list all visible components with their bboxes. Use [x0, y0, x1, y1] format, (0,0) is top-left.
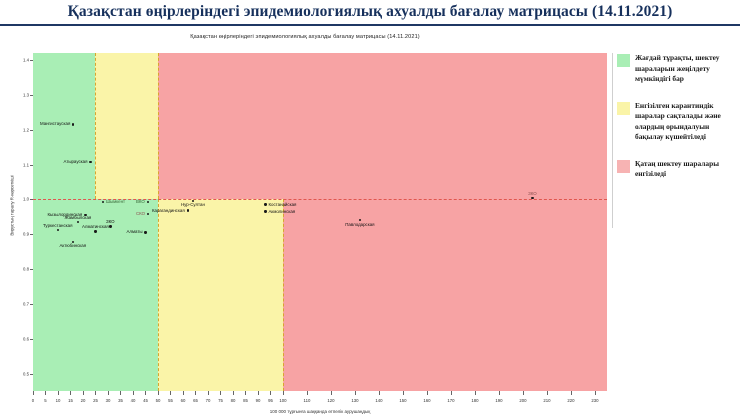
- plot-area: МангистаускаяАтыраускаяШымкентВКОСКОКызы…: [33, 53, 607, 391]
- x-axis-tick-mark: [571, 391, 572, 395]
- x-axis-tick-mark: [145, 391, 146, 395]
- data-point-label: Алматы: [126, 230, 142, 234]
- x-axis-tick-label: 5: [44, 398, 46, 403]
- x-axis-tick-label: 170: [447, 398, 454, 403]
- data-point-label: СКО: [136, 212, 145, 216]
- x-axis-tick-mark: [95, 391, 96, 395]
- x-axis-tick-mark: [595, 391, 596, 395]
- x-axis-tick-label: 40: [131, 398, 136, 403]
- x-axis-tick-mark: [233, 391, 234, 395]
- x-axis-tick-label: 100: [279, 398, 286, 403]
- y-axis-tick-label: 1.2: [23, 127, 29, 132]
- legend-item[interactable]: Қатаң шектеу шаралары енгізіледі: [617, 159, 737, 180]
- x-axis-tick-mark: [183, 391, 184, 395]
- x-axis-tick-mark: [523, 391, 524, 395]
- data-point-label: Нур-Султан: [181, 203, 205, 207]
- x-axis-tick-mark: [45, 391, 46, 395]
- x-axis-tick-label: 130: [351, 398, 358, 403]
- x-axis-tick-mark: [270, 391, 271, 395]
- data-point-label: Карагандинская: [152, 209, 185, 213]
- x-axis-tick-mark: [547, 391, 548, 395]
- x-axis-tick-label: 160: [423, 398, 430, 403]
- x-axis-tick-label: 85: [243, 398, 248, 403]
- x-axis-tick-mark: [475, 391, 476, 395]
- x-axis-tick-mark: [158, 391, 159, 395]
- data-point[interactable]: [264, 210, 266, 212]
- data-point-label: Костанайская: [268, 203, 296, 207]
- data-point-label: Шымкент: [106, 200, 125, 204]
- threshold-line-vertical: [158, 53, 159, 199]
- data-point[interactable]: [187, 209, 189, 211]
- x-axis-tick-label: 10: [56, 398, 61, 403]
- x-axis-label: 100 000 тұрғынға шаққанда өтпелік ауруша…: [33, 409, 607, 414]
- x-axis-tick-label: 110: [304, 398, 311, 403]
- y-axis-tick-label: 0.5: [23, 371, 29, 376]
- x-axis-tick-label: 50: [156, 398, 161, 403]
- y-axis: Вирустың таралу R-көрсеткіші 1.41.31.21.…: [0, 53, 33, 391]
- x-axis-tick-label: 150: [399, 398, 406, 403]
- x-axis-tick-mark: [83, 391, 84, 395]
- x-axis-tick-label: 220: [567, 398, 574, 403]
- x-axis-tick-label: 80: [231, 398, 236, 403]
- legend-swatch: [617, 54, 630, 67]
- data-point-label: Туркестанская: [43, 224, 73, 228]
- legend-label: Қатаң шектеу шаралары енгізіледі: [635, 159, 737, 180]
- x-axis-tick-label: 25: [93, 398, 98, 403]
- y-axis-tick-label: 1.4: [23, 57, 29, 62]
- x-axis-tick-mark: [355, 391, 356, 395]
- data-point[interactable]: [89, 161, 91, 163]
- data-point-label: Павлодарская: [345, 223, 374, 227]
- plot-canvas: МангистаускаяАтыраускаяШымкентВКОСКОКызы…: [33, 53, 607, 391]
- chart-legend: Жағдай тұрақты, шектеу шараларын жеңілде…: [617, 53, 737, 196]
- data-point-label: ЗКО: [528, 192, 537, 196]
- x-axis-tick-label: 180: [471, 398, 478, 403]
- x-axis-tick-label: 45: [143, 398, 148, 403]
- x-axis-tick-label: 95: [268, 398, 273, 403]
- y-axis-tick-label: 1.3: [23, 92, 29, 97]
- y-axis-tick-label: 1.1: [23, 162, 29, 167]
- legend-swatch: [617, 160, 630, 173]
- x-axis-tick-mark: [58, 391, 59, 395]
- data-point[interactable]: [264, 203, 266, 205]
- x-axis-tick-label: 190: [495, 398, 502, 403]
- x-axis-tick-label: 15: [68, 398, 73, 403]
- legend-label: Енгізілген карантиндік шаралар сақталады…: [635, 101, 737, 143]
- x-axis-tick-mark: [451, 391, 452, 395]
- data-point-label: Мангистауская: [40, 122, 70, 126]
- x-axis-tick-mark: [258, 391, 259, 395]
- x-axis-tick-mark: [170, 391, 171, 395]
- x-axis-tick-mark: [427, 391, 428, 395]
- x-axis-tick-label: 60: [181, 398, 186, 403]
- x-axis-tick-label: 20: [81, 398, 86, 403]
- x-axis-tick-mark: [195, 391, 196, 395]
- x-axis-tick-mark: [307, 391, 308, 395]
- data-point-label: Акмолинская: [268, 210, 295, 214]
- threshold-line-vertical: [158, 199, 159, 391]
- legend-item[interactable]: Енгізілген карантиндік шаралар сақталады…: [617, 101, 737, 143]
- x-axis-tick-mark: [245, 391, 246, 395]
- threshold-line-vertical: [283, 199, 284, 391]
- x-axis: 0510152025303540455055606570758085909510…: [33, 391, 607, 407]
- data-point-label: Жамбылская: [64, 216, 91, 220]
- y-axis-tick-label: 0.8: [23, 267, 29, 272]
- x-axis-tick-label: 70: [206, 398, 211, 403]
- zone-upper-yellow: [95, 53, 157, 199]
- zone-lower-yellow: [158, 199, 283, 391]
- x-axis-tick-mark: [499, 391, 500, 395]
- x-axis-tick-label: 0: [32, 398, 34, 403]
- y-axis-label: Вирустың таралу R-көрсеткіші: [10, 141, 15, 271]
- legend-item[interactable]: Жағдай тұрақты, шектеу шараларын жеңілде…: [617, 53, 737, 85]
- x-axis-tick-label: 200: [519, 398, 526, 403]
- data-point[interactable]: [94, 230, 96, 232]
- x-axis-tick-mark: [120, 391, 121, 395]
- data-point-label: Атырауская: [63, 160, 87, 164]
- data-point[interactable]: [72, 123, 74, 125]
- legend-swatch: [617, 102, 630, 115]
- x-axis-tick-label: 90: [256, 398, 261, 403]
- data-point[interactable]: [144, 231, 146, 233]
- data-point[interactable]: [109, 225, 111, 227]
- x-axis-tick-mark: [220, 391, 221, 395]
- chart-title: Қазақстан өңірлеріндегі эпидемиологиялық…: [0, 34, 610, 40]
- page-title: Қазақстан өңірлеріндегі эпидемиологиялық…: [68, 3, 673, 21]
- chart-container: Қазақстан өңірлеріндегі эпидемиологиялық…: [0, 26, 740, 413]
- x-axis-tick-label: 75: [218, 398, 223, 403]
- x-axis-tick-label: 55: [168, 398, 173, 403]
- legend-divider: [612, 53, 613, 228]
- legend-label: Жағдай тұрақты, шектеу шараларын жеңілде…: [635, 53, 737, 85]
- x-axis-tick-label: 65: [193, 398, 198, 403]
- data-point-label: ВКО: [136, 200, 145, 204]
- y-axis-tick-label: 0.7: [23, 301, 29, 306]
- x-axis-tick-label: 35: [118, 398, 123, 403]
- x-axis-tick-mark: [331, 391, 332, 395]
- threshold-line-vertical: [95, 53, 96, 199]
- x-axis-tick-mark: [133, 391, 134, 395]
- y-axis-tick-label: 0.9: [23, 232, 29, 237]
- x-axis-tick-label: 210: [543, 398, 550, 403]
- data-point-label: Актюбинская: [59, 244, 86, 248]
- y-axis-tick-label: 0.6: [23, 336, 29, 341]
- x-axis-tick-label: 140: [375, 398, 382, 403]
- x-axis-tick-mark: [283, 391, 284, 395]
- x-axis-tick-mark: [379, 391, 380, 395]
- y-axis-tick-label: 1.0: [23, 197, 29, 202]
- page-header: Қазақстан өңірлеріндегі эпидемиологиялық…: [0, 0, 740, 26]
- x-axis-tick-label: 230: [591, 398, 598, 403]
- x-axis-tick-mark: [208, 391, 209, 395]
- x-axis-tick-mark: [70, 391, 71, 395]
- x-axis-tick-label: 120: [327, 398, 334, 403]
- x-axis-tick-mark: [33, 391, 34, 395]
- x-axis-tick-mark: [403, 391, 404, 395]
- data-point-label: Алматинская: [82, 225, 109, 229]
- x-axis-tick-mark: [108, 391, 109, 395]
- x-axis-tick-label: 30: [106, 398, 111, 403]
